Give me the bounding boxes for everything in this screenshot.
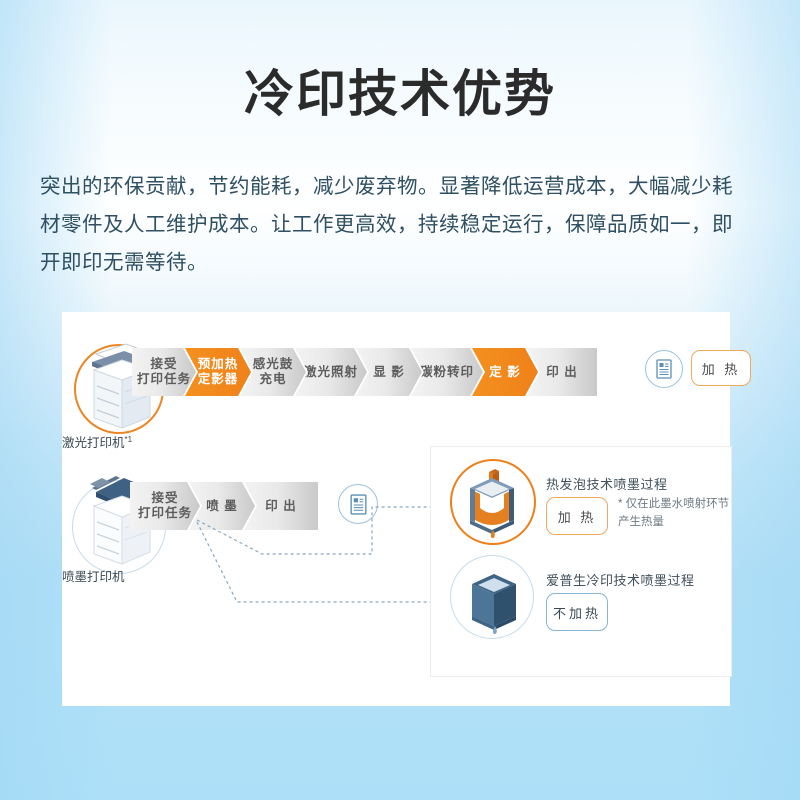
inkjet-step-2[interactable]: 印 出 (244, 482, 318, 530)
laser-step-2-line2: 充电 (253, 372, 294, 387)
inkjet-printer-label: 喷墨打印机 (62, 566, 125, 585)
laser-output-document-circle[interactable] (645, 350, 683, 388)
laser-printer-label: 激光打印机*1 (62, 432, 132, 451)
laser-step-5-line1: 碳粉转印 (420, 365, 474, 380)
inkjet-step-0-line2: 打印任务 (138, 506, 192, 521)
cold-pill[interactable]: 不加热 (546, 593, 608, 631)
laser-result-pill[interactable]: 加 热 (691, 350, 751, 386)
laser-printer-label-sup: *1 (125, 435, 133, 444)
laser-step-7-line1: 印 出 (546, 365, 577, 380)
thermal-footnote: * 仅在此墨水喷射环节产生热量 (618, 495, 738, 531)
page-title: 冷印技术优势 (0, 66, 800, 124)
inkjet-output-document-circle[interactable] (338, 484, 378, 524)
inkjet-step-1-line1: 喷 墨 (206, 499, 237, 514)
inkjet-flow-steps: 接受 打印任务 喷 墨 印 出 (130, 482, 307, 530)
inkjet-step-0[interactable]: 接受 打印任务 (130, 482, 200, 530)
laser-step-6-line1: 定 影 (489, 365, 520, 380)
diagram-card: 激光打印机*1 接受 打印任务 预加热 定影器 感光鼓 充电 (62, 312, 730, 706)
thermal-ink-chamber-icon (462, 468, 522, 538)
cold-ink-chamber-icon (465, 566, 523, 634)
laser-step-0[interactable]: 接受 打印任务 (132, 348, 196, 396)
laser-step-1-line1: 预加热 (198, 357, 239, 372)
laser-printer-label-text: 激光打印机 (62, 436, 125, 450)
inkjet-step-0-line1: 接受 (138, 491, 192, 506)
document-icon (350, 494, 367, 515)
cold-title: 爱普生冷印技术喷墨过程 (546, 570, 695, 589)
laser-step-0-line1: 接受 (137, 357, 191, 372)
document-icon (656, 359, 672, 379)
inkjet-step-2-line1: 印 出 (265, 499, 296, 514)
page-root: 冷印技术优势 突出的环保贡献，节约能耗，减少废弃物。显著降低运营成本，大幅减少耗… (0, 0, 800, 800)
laser-step-2-line1: 感光鼓 (253, 357, 294, 372)
laser-step-3-line1: 激光照射 (304, 365, 358, 380)
laser-step-4-line1: 显 影 (373, 365, 404, 380)
laser-flow-steps: 接受 打印任务 预加热 定影器 感光鼓 充电 激光照射 显 影 (132, 348, 586, 396)
thermal-title: 热发泡技术喷墨过程 (546, 474, 668, 493)
laser-step-0-line2: 打印任务 (137, 372, 191, 387)
thermal-pill[interactable]: 加 热 (546, 497, 608, 535)
page-description: 突出的环保贡献，节约能耗，减少废弃物。显著降低运营成本，大幅减少耗材零件及人工维… (40, 168, 740, 282)
laser-step-1-line2: 定影器 (198, 372, 239, 387)
